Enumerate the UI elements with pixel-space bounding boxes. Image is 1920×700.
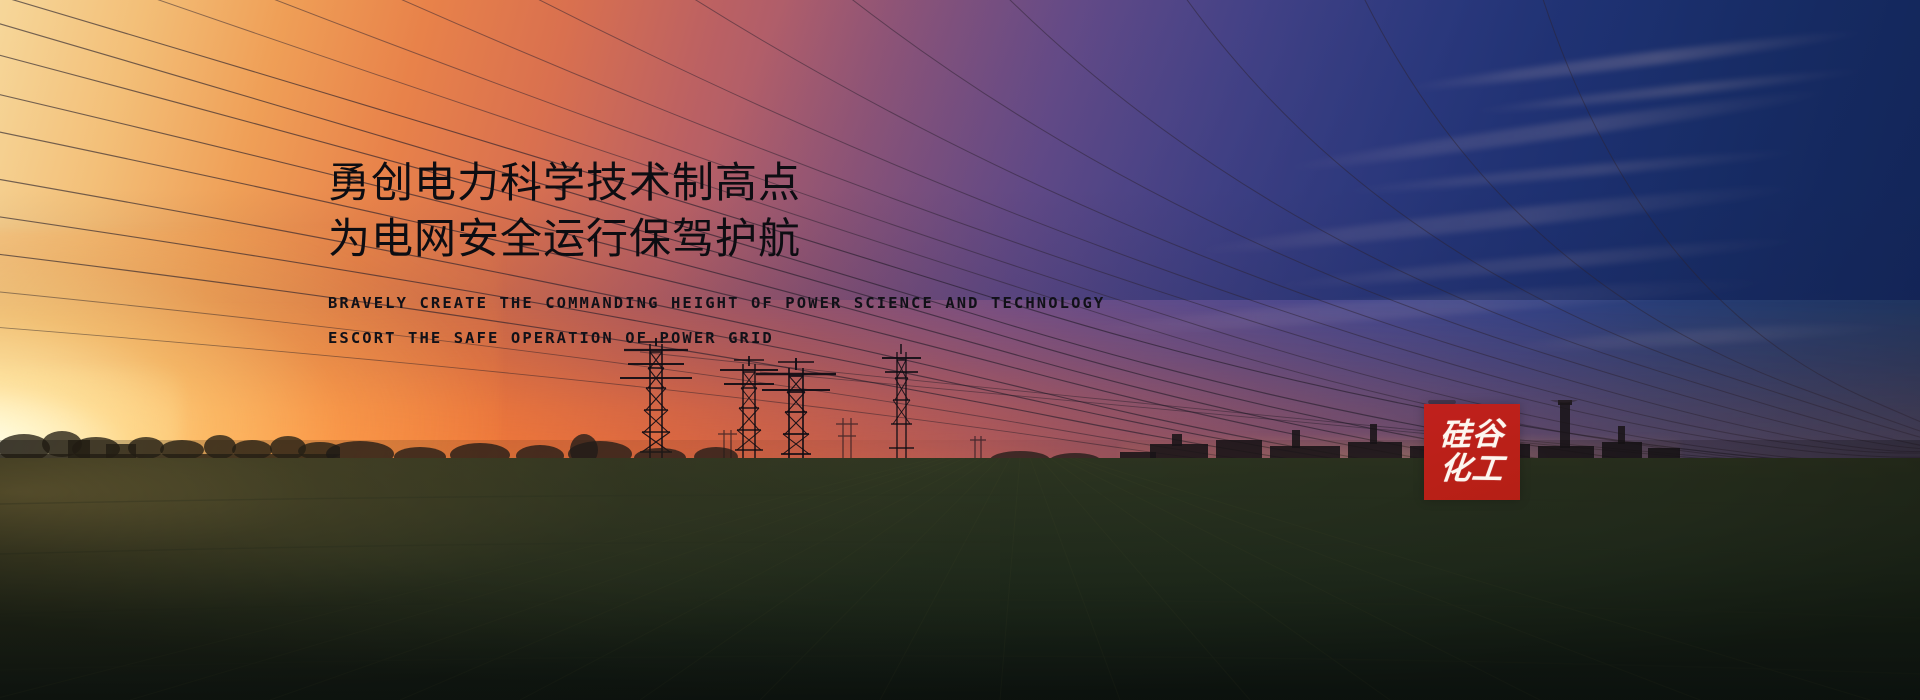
seal-text-line-1: 硅谷: [1439, 418, 1505, 452]
headline-line-1: 勇创电力科学技术制高点: [328, 155, 1328, 211]
hero-text-block: 勇创电力科学技术制高点 为电网安全运行保驾护航 BRAVELY CREATE T…: [328, 155, 1328, 347]
headline-line-2: 为电网安全运行保驾护航: [328, 211, 1328, 267]
ground-vignette: [0, 440, 1920, 700]
company-seal-logo[interactable]: 硅谷 化工: [1424, 404, 1520, 500]
banner-hero: 勇创电力科学技术制高点 为电网安全运行保驾护航 BRAVELY CREATE T…: [0, 0, 1920, 700]
subtitle-line-1: BRAVELY CREATE THE COMMANDING HEIGHT OF …: [328, 294, 1328, 312]
subtitle-line-2: ESCORT THE SAFE OPERATION OF POWER GRID: [328, 329, 1328, 347]
seal-text-line-2: 化工: [1438, 452, 1505, 485]
